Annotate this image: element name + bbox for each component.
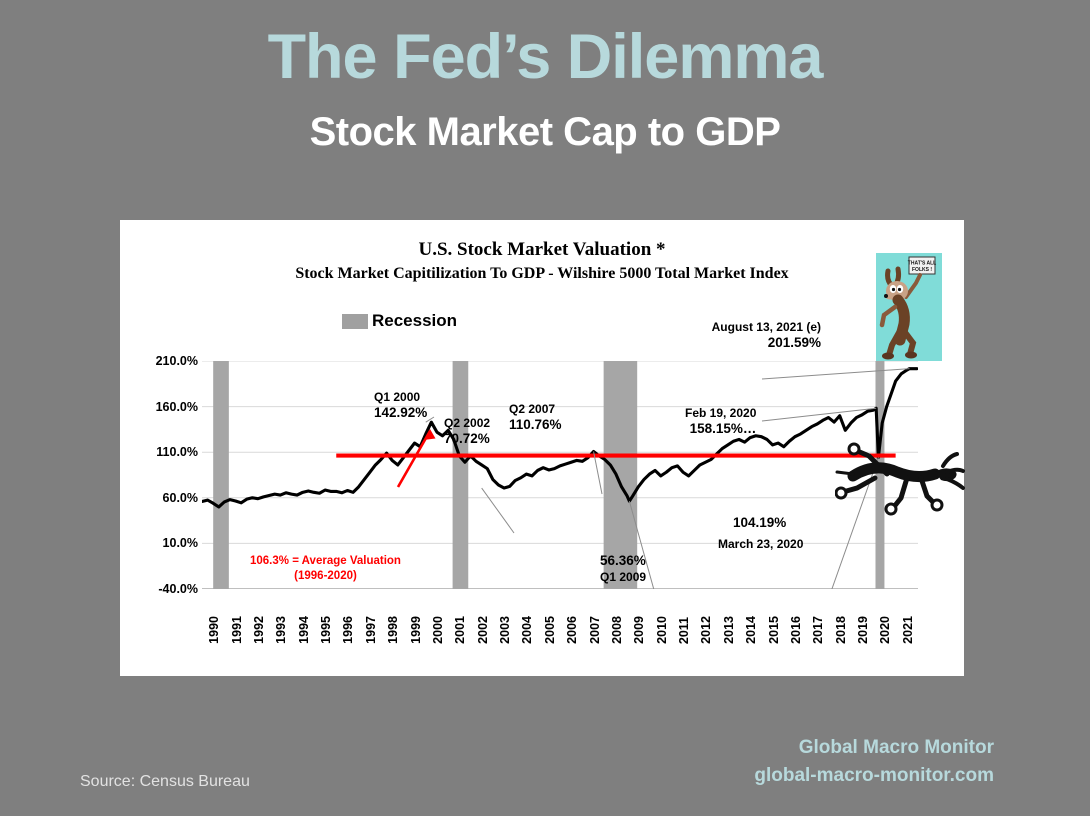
page-title: The Fed’s Dilemma — [0, 24, 1090, 90]
y-axis-tick-label: 160.0% — [128, 400, 198, 414]
market-cap-line — [202, 369, 917, 507]
x-axis-tick-label: 2016 — [789, 616, 803, 644]
running-coyote-image — [835, 442, 965, 517]
x-axis-tick-label: 2000 — [431, 616, 445, 644]
chart-subtitle: Stock Market Capitilization To GDP - Wil… — [120, 265, 964, 283]
x-axis-tick-label: 1992 — [252, 616, 266, 644]
x-axis: 1990199119921993199419951996199719981999… — [202, 592, 918, 644]
svg-text:FOLKS !: FOLKS ! — [912, 267, 932, 273]
x-axis-tick-label: 2015 — [767, 616, 781, 644]
source-note: Source: Census Bureau — [80, 773, 250, 791]
x-axis-tick-label: 2008 — [610, 616, 624, 644]
y-axis-tick-label: 110.0% — [128, 445, 198, 459]
x-axis-tick-label: 1997 — [364, 616, 378, 644]
x-axis-tick-label: 1996 — [341, 616, 355, 644]
recession-legend-swatch — [342, 314, 368, 329]
annotation-q1-2009: 56.36% Q1 2009 — [600, 553, 646, 585]
x-axis-tick-label: 1993 — [274, 616, 288, 644]
x-axis-tick-label: 1991 — [230, 616, 244, 644]
x-axis-tick-label: 1990 — [207, 616, 221, 644]
x-axis-tick-label: 2021 — [901, 616, 915, 644]
chart-title: U.S. Stock Market Valuation * — [120, 239, 964, 261]
x-axis-tick-label: 1999 — [409, 616, 423, 644]
x-axis-tick-label: 2003 — [498, 616, 512, 644]
x-axis-tick-label: 2004 — [520, 616, 534, 644]
x-axis-tick-label: 2018 — [834, 616, 848, 644]
y-axis: -40.0%10.0%60.0%110.0%160.0%210.0% — [120, 361, 198, 589]
x-axis-tick-label: 1998 — [386, 616, 400, 644]
y-axis-tick-label: 10.0% — [128, 536, 198, 550]
x-axis-tick-label: 2007 — [588, 616, 602, 644]
annotation-march-2020-value: 104.19% — [733, 515, 786, 532]
x-axis-tick-label: 2009 — [632, 616, 646, 644]
annotation-august-2021: August 13, 2021 (e) 201.59% — [686, 320, 821, 352]
x-axis-tick-label: 2001 — [453, 616, 467, 644]
chart-legend: Recession — [342, 311, 457, 331]
annotation-q1-2000: Q1 2000 142.92% — [374, 390, 427, 422]
annotation-q2-2002: Q2 2002 70.72% — [444, 416, 490, 448]
leader-line — [482, 488, 514, 533]
coyote-with-sign-image: THAT'S ALL FOLKS ! — [876, 253, 942, 361]
page-subtitle: Stock Market Cap to GDP — [0, 110, 1090, 155]
y-axis-tick-label: -40.0% — [128, 582, 198, 596]
brand-block: Global Macro Monitor global-macro-monito… — [754, 734, 994, 789]
x-axis-tick-label: 2013 — [722, 616, 736, 644]
x-axis-tick-label: 2017 — [811, 616, 825, 644]
x-axis-tick-label: 1994 — [297, 616, 311, 644]
x-axis-tick-label: 2011 — [677, 617, 691, 644]
brand-url: global-macro-monitor.com — [754, 762, 994, 790]
x-axis-tick-label: 2002 — [476, 616, 490, 644]
recession-band — [453, 361, 469, 589]
annotation-march-2020-date: March 23, 2020 — [718, 537, 803, 552]
y-axis-tick-label: 210.0% — [128, 354, 198, 368]
average-valuation-label: 106.3% = Average Valuation (1996-2020) — [250, 554, 401, 584]
annotation-feb-2020: Feb 19, 2020 158.15%… — [685, 406, 756, 438]
x-axis-tick-label: 2020 — [878, 616, 892, 644]
recession-band — [213, 361, 229, 589]
x-axis-tick-label: 1995 — [319, 616, 333, 644]
recession-legend-label: Recession — [372, 311, 457, 331]
chart-panel: U.S. Stock Market Valuation * Stock Mark… — [120, 220, 964, 676]
x-axis-tick-label: 2010 — [655, 616, 669, 644]
svg-text:THAT'S ALL: THAT'S ALL — [908, 261, 936, 267]
x-axis-tick-label: 2006 — [565, 616, 579, 644]
x-axis-tick-label: 2019 — [856, 616, 870, 644]
brand-name: Global Macro Monitor — [754, 734, 994, 762]
leader-line — [762, 369, 909, 379]
y-axis-tick-label: 60.0% — [128, 491, 198, 505]
x-axis-tick-label: 2014 — [744, 616, 758, 644]
x-axis-tick-label: 2012 — [699, 616, 713, 644]
annotation-q2-2007: Q2 2007 110.76% — [509, 402, 562, 434]
x-axis-tick-label: 2005 — [543, 616, 557, 644]
